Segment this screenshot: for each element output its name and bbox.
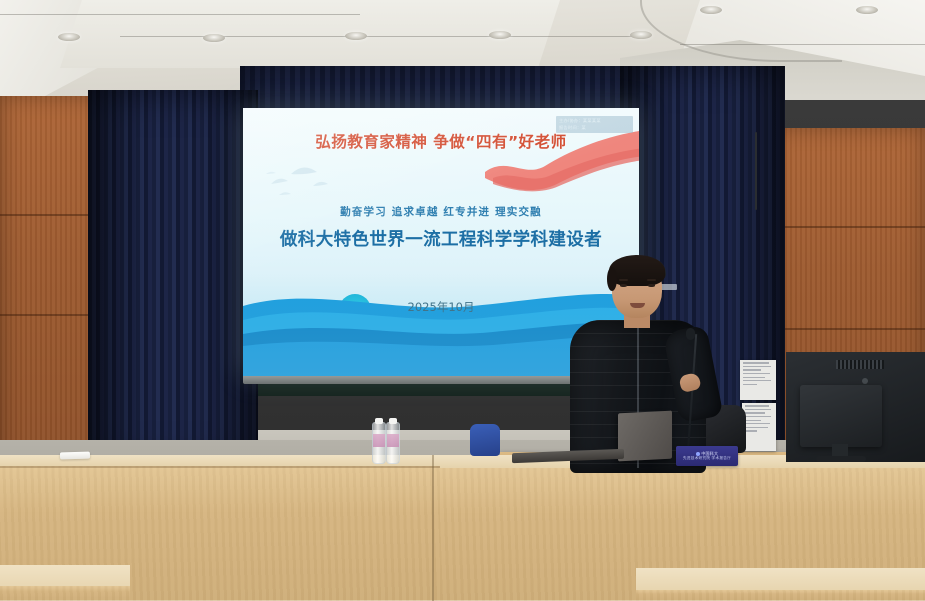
computer-monitor — [800, 385, 882, 447]
curtain-left — [88, 90, 258, 468]
presenter-eyebrow — [647, 279, 656, 281]
slide-headline: 做科大特色世界一流工程科学学科建设者 — [243, 226, 639, 251]
downlight-icon — [856, 6, 878, 14]
water-bottle — [372, 422, 386, 464]
monitor-stand-base — [816, 456, 866, 462]
downlight-icon — [345, 32, 367, 40]
water-bottle — [386, 422, 400, 464]
bottle-label — [373, 434, 385, 447]
nameplate-subtitle: 先进技术研究院 学术报告厅 — [683, 456, 731, 461]
microphone-icon — [686, 328, 695, 340]
flying-birds-icon — [261, 158, 351, 204]
slide-motto: 勤奋学习 追求卓越 红专并进 理实交融 — [243, 204, 639, 219]
near-desk-edge-left — [0, 586, 130, 601]
downlight-icon — [630, 31, 652, 39]
curtain-shading — [88, 90, 258, 468]
presenter-eye — [648, 284, 655, 287]
podium-nameplate: 中国科大 先进技术研究院 学术报告厅 — [676, 446, 738, 466]
notice-sheet-lower — [742, 403, 776, 451]
audience-chair — [470, 424, 500, 456]
wood-seam — [770, 226, 925, 228]
ceiling-seam — [680, 44, 925, 45]
wood-seam — [770, 328, 925, 330]
desk-edge — [0, 466, 452, 468]
slide-title: 弘扬教育家精神 争做“四有”好老师 — [243, 130, 639, 152]
cabinet-knob — [862, 378, 868, 384]
ceiling-seam — [0, 14, 360, 15]
ceiling-seam — [120, 36, 640, 37]
curtain-valance — [240, 66, 640, 110]
jacket-logo — [660, 284, 677, 290]
downlight-icon — [58, 33, 80, 41]
near-desk-edge-right — [636, 590, 925, 601]
bottle-label — [387, 434, 399, 447]
hanging-cable — [755, 132, 757, 210]
desk-joint — [432, 455, 434, 601]
presenter-eyebrow — [619, 279, 628, 281]
laptop-lid — [618, 411, 672, 462]
cabinet-vent — [836, 360, 884, 369]
downlight-icon — [203, 34, 225, 42]
folded-paper — [60, 452, 90, 460]
ceiling-panel-center — [60, 0, 560, 68]
notice-sheet-upper — [740, 360, 776, 400]
downlight-icon — [489, 31, 511, 39]
presenter-hair — [609, 255, 665, 286]
presenter-eye — [620, 284, 627, 287]
downlight-icon — [700, 6, 722, 14]
lecture-hall-photo: 主办/协办：某某某某 报告时间：某 弘扬教育家精神 争做“四有”好老师 勤奋学习… — [0, 0, 925, 601]
